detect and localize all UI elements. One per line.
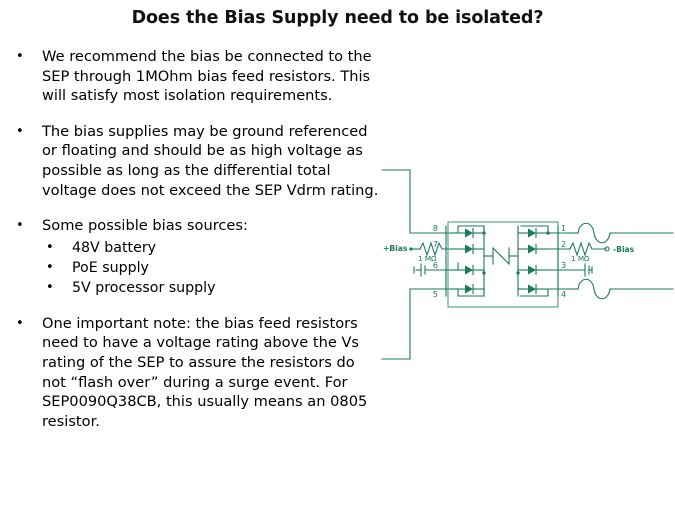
list-item-text: The bias supplies may be ground referenc…	[42, 122, 382, 200]
page-title: Does the Bias Supply need to be isolated…	[0, 8, 675, 28]
list-item-text: We recommend the bias be connected to th…	[42, 47, 382, 106]
sub-list-item-text: PoE supply	[72, 258, 382, 278]
bullet-marker: •	[10, 216, 42, 236]
circuit-schematic-diagram: +Bias 1 MΩ -Bias 1 MΩ 8 7 6 5 1 2 3 4	[380, 160, 675, 370]
bidirectional-thyristor	[484, 248, 518, 264]
list-item-text: Some possible bias sources:	[42, 216, 382, 236]
sub-list-item: • 48V battery	[36, 238, 382, 258]
ic-package-outline	[448, 222, 558, 307]
sub-list-item-text: 48V battery	[72, 238, 382, 258]
pin-label-5: 5	[433, 290, 438, 299]
pin-label-4: 4	[561, 290, 566, 299]
diode-bridge-left	[455, 226, 486, 296]
pin-label-8: 8	[433, 224, 438, 233]
bullet-marker: •	[10, 122, 42, 142]
sub-list: • 48V battery • PoE supply • 5V processo…	[10, 238, 382, 298]
bullet-marker: •	[10, 47, 42, 67]
bias-positive-label: +Bias	[383, 244, 408, 253]
bullet-marker: •	[36, 258, 72, 278]
battery-left	[414, 264, 446, 276]
inductor-bottom-right	[566, 279, 673, 299]
diode-bridge-right	[516, 226, 549, 296]
sub-list-item: • 5V processor supply	[36, 278, 382, 298]
sub-list-item-text: 5V processor supply	[72, 278, 382, 298]
pin-label-7: 7	[433, 240, 438, 249]
list-item: • The bias supplies may be ground refere…	[10, 122, 382, 200]
pin-label-1: 1	[561, 224, 566, 233]
bias-negative-label: -Bias	[613, 245, 635, 254]
pin-label-6: 6	[433, 261, 438, 270]
bullet-marker: •	[36, 278, 72, 298]
list-item-group: • Some possible bias sources: • 48V batt…	[10, 216, 382, 298]
pin-label-2: 2	[561, 240, 566, 249]
list-item-text: One important note: the bias feed resist…	[42, 314, 382, 432]
resistor-right-label: 1 MΩ	[571, 254, 590, 263]
list-item: • Some possible bias sources:	[10, 216, 382, 236]
battery-right	[566, 264, 592, 276]
inductor-top-right	[566, 223, 673, 243]
bullet-marker: •	[10, 314, 42, 334]
pin-stubs-left	[446, 226, 455, 296]
bullet-list: • We recommend the bias be connected to …	[10, 47, 382, 431]
list-item: • One important note: the bias feed resi…	[10, 314, 382, 432]
sub-list-item: • PoE supply	[36, 258, 382, 278]
pin-label-3: 3	[561, 261, 566, 270]
bullet-marker: •	[36, 238, 72, 258]
list-item: • We recommend the bias be connected to …	[10, 47, 382, 106]
